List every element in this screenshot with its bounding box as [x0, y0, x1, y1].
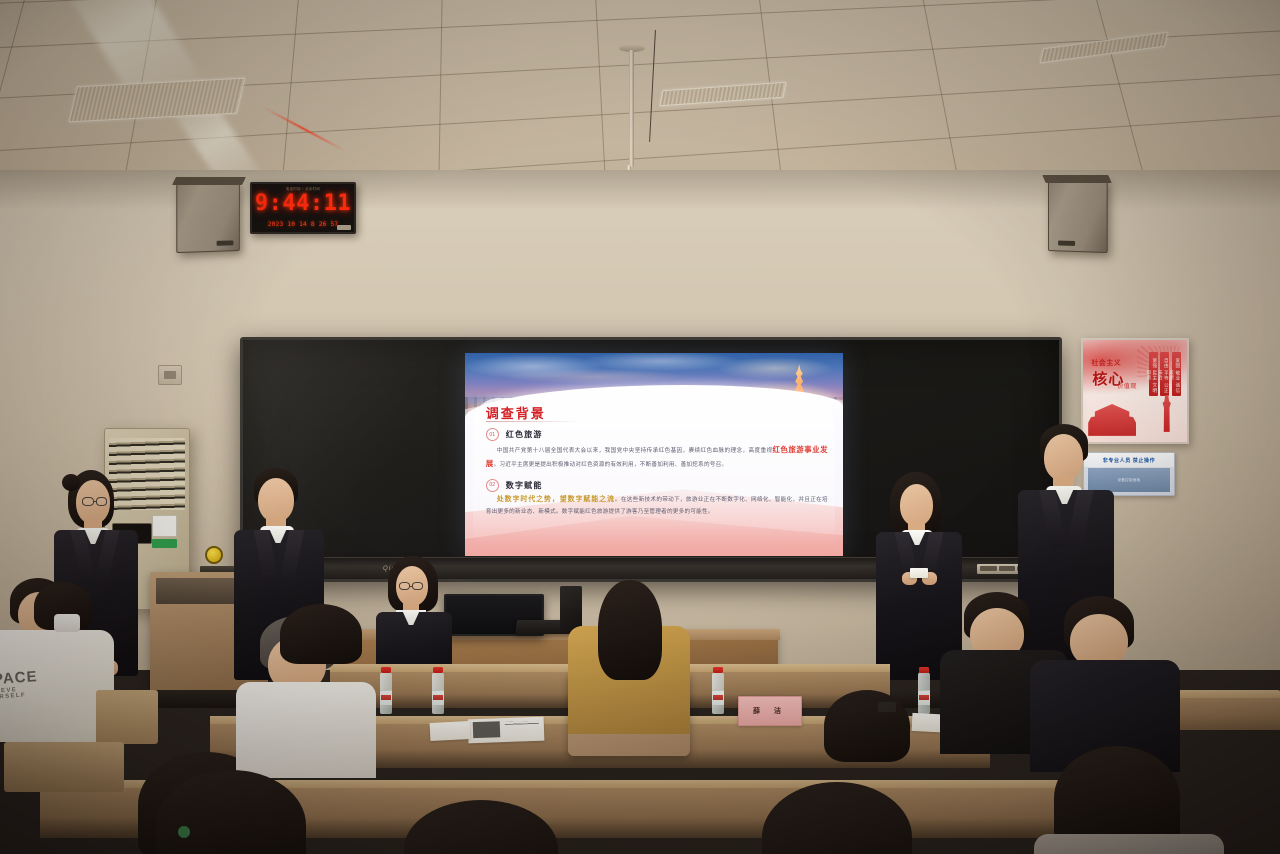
- slide-title-rule: [486, 421, 581, 422]
- operator-glasses-bridge: [410, 586, 413, 587]
- presenter-3-speech-card: [910, 568, 928, 578]
- slide-title: 调查背景: [486, 403, 546, 422]
- io-port-2[interactable]: [999, 566, 1016, 571]
- warning-text-bar: 非专业人员 禁止操作: [1084, 453, 1174, 467]
- water-bottle-1-cap: [381, 667, 391, 673]
- ac-louver-vent: [109, 438, 185, 510]
- audience-4-shirt: [236, 682, 376, 778]
- ac-eco-tag: [152, 539, 177, 548]
- water-bottle-3-cap: [713, 667, 723, 673]
- slide-section-2-highlight: 处数字时代之势，望数字赋能之流: [497, 496, 615, 503]
- audience-5-hair: [598, 580, 662, 680]
- poster-value-columns: 富强 民主 文明 和谐 自由 平等 公正 法治 爱国 敬业 诚信 友善: [1149, 352, 1181, 396]
- slide-section-1-heading: 红色旅游: [506, 429, 543, 440]
- name-card-placard: 薛 洁: [738, 696, 802, 726]
- wall-speaker-left: [176, 181, 240, 253]
- operator-glasses-left-lens: [399, 582, 410, 590]
- fire-hose-reel: [205, 546, 223, 564]
- poster-sub-text: 价值观: [1117, 381, 1137, 390]
- wall-speaker-right-top: [1042, 175, 1112, 183]
- warning-text: 非专业人员 禁止操作: [1103, 457, 1155, 464]
- io-port-1[interactable]: [980, 566, 997, 571]
- wall-outlet-plate: [158, 365, 182, 385]
- slide-section-1-text-after: 。习近平主席更是提出积极推动对红色资源的有效利用，不断善加利用、善加挖系的号召。: [494, 462, 728, 468]
- water-bottle-3: [712, 672, 724, 714]
- warning-screen-label: 设备控制面板: [1117, 478, 1140, 483]
- slide-section-1-number: 01: [486, 428, 499, 441]
- tiananmen-gate-graphic: [1088, 401, 1136, 436]
- slide-section-1-head: 01 红色旅游: [486, 428, 828, 441]
- slide-section-2: 02 数字赋能 处数字时代之势，望数字赋能之流。在这些新技术的带动下，旅游业正在…: [486, 479, 828, 517]
- slide-section-1-text-before: 中国共产党第十八届全国代表大会以来，我国党中央坚持传承红色基因，赓续红色血脉的理…: [497, 448, 773, 454]
- water-bottle-4-label: [918, 690, 930, 705]
- water-bottle-1: [380, 672, 392, 714]
- water-bottle-4: [918, 672, 930, 714]
- socialist-core-values-poster: 社会主义 核心 价值观 富强 民主 文明 和谐 自由 平等 公正 法治 爱国 敬…: [1081, 338, 1189, 444]
- clock-time-readout: 9:44:11: [252, 191, 354, 216]
- presenter-3-head: [900, 484, 933, 526]
- chair-back-left-2: [4, 742, 124, 792]
- warning-sign-photo: 设备控制面板: [1088, 468, 1171, 492]
- audience-fg-1-hairclip: [178, 826, 190, 838]
- presenter-4-head: [1044, 434, 1083, 481]
- presenter-2-head: [258, 478, 294, 522]
- slide-section-2-number: 02: [486, 479, 499, 492]
- ceiling: [0, 0, 1280, 178]
- name-card-text: 薛 洁: [753, 706, 787, 716]
- poster-column-3: 爱国 敬业 诚信 友善: [1172, 352, 1181, 396]
- presentation-slide: 调查背景 01 红色旅游 中国共产党第十八届全国代表大会以来，我国党中央坚持传承…: [465, 353, 843, 556]
- slide-section-2-head: 02 数字赋能: [486, 479, 828, 492]
- operator-glasses-right-lens: [412, 582, 423, 590]
- slide-section-1: 01 红色旅游 中国共产党第十八届全国代表大会以来，我国党中央坚持传承红色基因，…: [486, 428, 828, 470]
- newspaper-on-desk: [468, 717, 545, 744]
- ac-energy-label: [152, 515, 177, 537]
- water-bottle-3-label: [712, 690, 724, 705]
- poster-column-2: 自由 平等 公正 法治: [1160, 352, 1169, 396]
- slide-section-2-body: 处数字时代之势，望数字赋能之流。在这些新技术的带动下，旅游业正在不断数字化、网络…: [486, 494, 828, 517]
- audience-fg-5-hair: [824, 690, 910, 762]
- audience-fg-4-top: [1034, 834, 1224, 854]
- water-bottle-4-cap: [919, 667, 929, 673]
- ceiling-pole-upper: [629, 50, 634, 167]
- wall-speaker-right: [1048, 179, 1108, 253]
- wall-speaker-left-top: [172, 177, 246, 185]
- presenter-1-glasses-right-lens: [96, 497, 107, 506]
- presenter-1-glasses-bridge: [93, 501, 97, 502]
- audience-fg-5-hairclip: [878, 702, 896, 712]
- presenter-1-bun: [62, 474, 80, 491]
- digital-wall-clock: 电波时钟 / 北京时间 9:44:11 2023 10 14 8 26 57: [250, 182, 356, 234]
- water-bottle-1-label: [380, 690, 392, 705]
- chair-back-left: [96, 690, 158, 744]
- water-bottle-2-cap: [433, 667, 443, 673]
- water-bottle-2-label: [432, 690, 444, 705]
- clock-button[interactable]: [337, 225, 351, 230]
- classroom-scene: 电波时钟 / 北京时间 9:44:11 2023 10 14 8 26 57 社…: [0, 0, 1280, 854]
- audience-2-face-mask: [54, 614, 80, 632]
- water-bottle-2: [432, 672, 444, 714]
- audience-fg-6-hair: [280, 604, 362, 664]
- paper-sheet-1: [430, 721, 471, 741]
- monument-figure-graphic: [1161, 395, 1172, 432]
- slide-section-1-body: 中国共产党第十八届全国代表大会以来，我国党中央坚持传承红色基因，赓续红色血脉的理…: [486, 443, 828, 470]
- slide-section-2-heading: 数字赋能: [506, 480, 543, 491]
